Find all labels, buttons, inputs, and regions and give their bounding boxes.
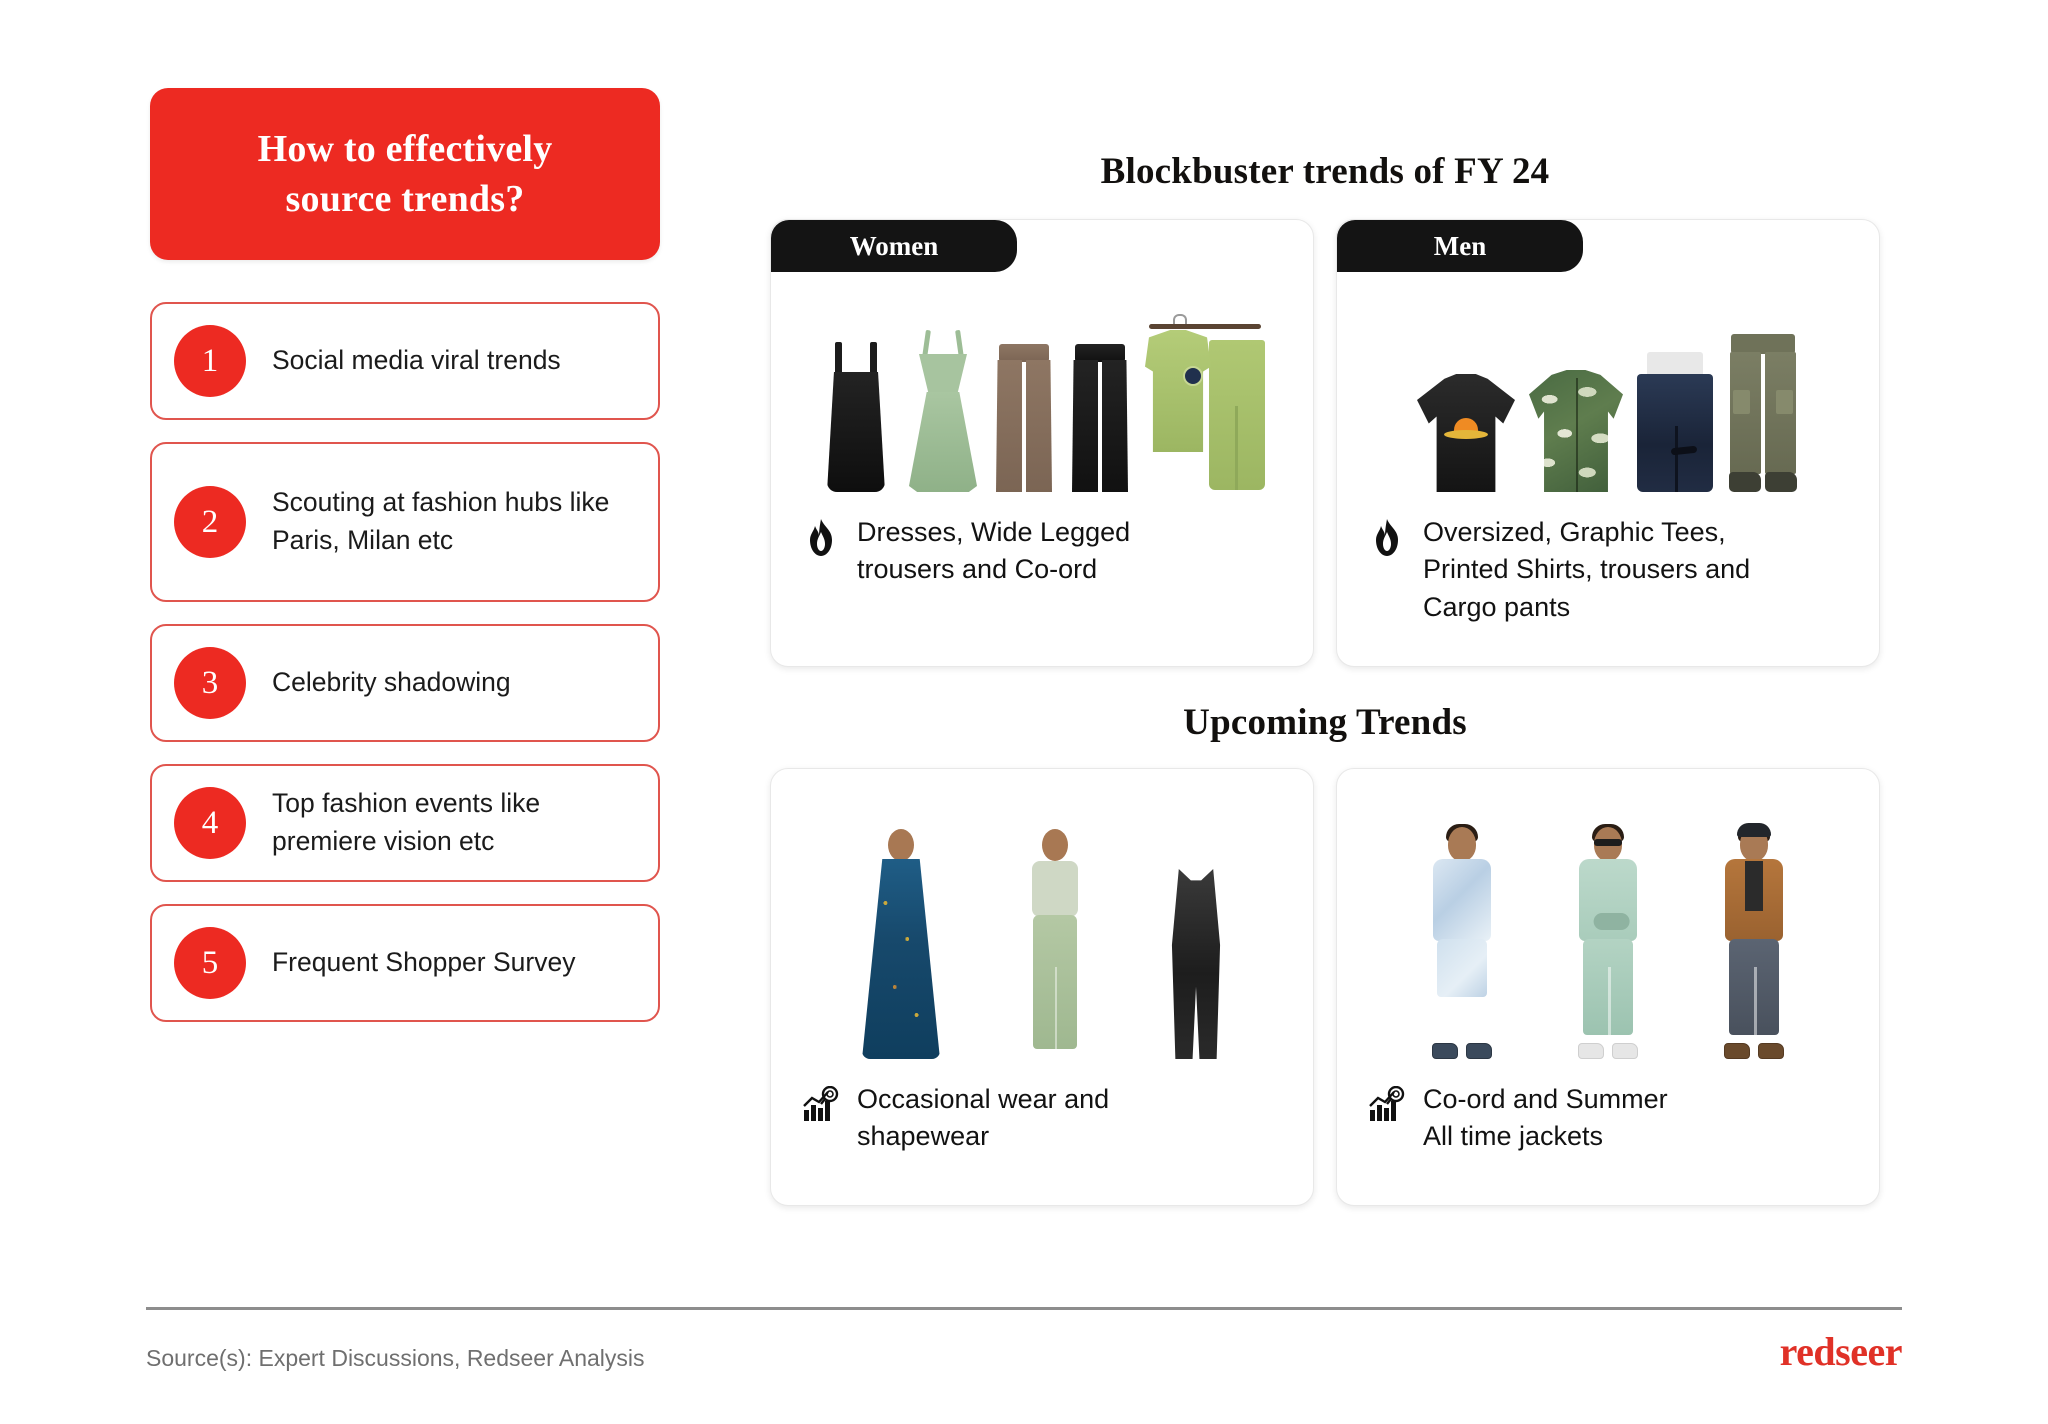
flame-icon xyxy=(801,514,841,562)
dark-denim-jeans-image xyxy=(1637,352,1713,492)
caption-text-women: Dresses, Wide Legged trousers and Co-ord xyxy=(857,514,1130,589)
blockbuster-card-row: Women xyxy=(770,219,1880,667)
caption-upcoming-men-line-2: All time jackets xyxy=(1423,1121,1603,1151)
section-title-card: How to effectively source trends? xyxy=(150,88,660,260)
page-title-line-1: How to effectively xyxy=(258,128,553,170)
black-mini-dress-image xyxy=(819,342,893,492)
upcoming-trends-heading: Upcoming Trends xyxy=(770,701,1880,744)
flame-icon xyxy=(1367,514,1407,562)
green-coord-set-image xyxy=(1145,314,1265,492)
source-note: Source(s): Expert Discussions, Redseer A… xyxy=(146,1345,645,1372)
black-graphic-tee-image xyxy=(1417,374,1515,492)
blue-occasion-lehenga-image xyxy=(845,827,957,1059)
caption-upcoming-men: Co-ord and Summer All time jackets xyxy=(1337,1059,1879,1156)
trend-card-women[interactable]: Women xyxy=(770,219,1314,667)
product-strip-upcoming-women xyxy=(771,809,1313,1059)
list-item[interactable]: 3 Celebrity shadowing xyxy=(150,624,660,742)
product-strip-upcoming-men xyxy=(1337,809,1879,1059)
caption-men-line-1: Oversized, Graphic Tees, xyxy=(1423,517,1726,547)
step-number-badge: 4 xyxy=(174,787,246,859)
trend-card-upcoming-women[interactable]: Occasional wear and shapewear xyxy=(770,768,1314,1206)
caption-text-upcoming-women: Occasional wear and shapewear xyxy=(857,1081,1109,1156)
gender-tab-men: Men xyxy=(1337,220,1583,272)
step-number-badge: 2 xyxy=(174,486,246,558)
left-panel: How to effectively source trends? 1 Soci… xyxy=(150,88,660,1022)
caption-men-line-2: Printed Shirts, trousers and xyxy=(1423,554,1750,584)
mint-coord-set-image xyxy=(1556,827,1660,1059)
step-number-badge: 5 xyxy=(174,927,246,999)
step-label: Top fashion events like premiere vision … xyxy=(272,785,658,860)
olive-cargo-pants-image xyxy=(1727,334,1799,492)
blockbuster-trends-heading: Blockbuster trends of FY 24 xyxy=(770,150,1880,193)
step-label: Frequent Shopper Survey xyxy=(272,944,591,982)
caption-men-line-3: Cargo pants xyxy=(1423,592,1570,622)
black-wide-leg-trousers-image xyxy=(1069,344,1131,492)
tan-jacket-outfit-image xyxy=(1702,827,1806,1059)
caption-men: Oversized, Graphic Tees, Printed Shirts,… xyxy=(1337,492,1879,626)
caption-upcoming-men-line-1: Co-ord and Summer xyxy=(1423,1084,1668,1114)
footer-row: Source(s): Expert Discussions, Redseer A… xyxy=(146,1332,1902,1372)
list-item[interactable]: 5 Frequent Shopper Survey xyxy=(150,904,660,1022)
caption-upcoming-women: Occasional wear and shapewear xyxy=(771,1059,1313,1156)
step-number-badge: 1 xyxy=(174,325,246,397)
trend-card-men[interactable]: Men xyxy=(1336,219,1880,667)
trend-chart-icon xyxy=(1367,1081,1407,1129)
step-label: Social media viral trends xyxy=(272,342,577,380)
footer-divider xyxy=(146,1307,1902,1310)
caption-upcoming-women-line-1: Occasional wear and xyxy=(857,1084,1109,1114)
list-item[interactable]: 2 Scouting at fashion hubs like Paris, M… xyxy=(150,442,660,602)
brown-wide-leg-trousers-image xyxy=(993,344,1055,492)
caption-women-line-1: Dresses, Wide Legged xyxy=(857,517,1130,547)
caption-text-men: Oversized, Graphic Tees, Printed Shirts,… xyxy=(1423,514,1750,626)
tie-dye-coord-image xyxy=(1410,827,1514,1059)
trend-card-upcoming-men[interactable]: Co-ord and Summer All time jackets xyxy=(1336,768,1880,1206)
green-activewear-set-image xyxy=(999,827,1111,1059)
gender-tab-women: Women xyxy=(771,220,1017,272)
green-midi-dress-image xyxy=(907,330,979,492)
source-trends-step-list: 1 Social media viral trends 2 Scouting a… xyxy=(150,302,660,1022)
list-item[interactable]: 1 Social media viral trends xyxy=(150,302,660,420)
upcoming-card-row: Occasional wear and shapewear xyxy=(770,768,1880,1206)
product-strip-men xyxy=(1337,292,1879,492)
footer: Source(s): Expert Discussions, Redseer A… xyxy=(146,1307,1902,1372)
step-number-badge: 3 xyxy=(174,647,246,719)
step-label: Scouting at fashion hubs like Paris, Mil… xyxy=(272,484,658,559)
black-shapewear-image xyxy=(1153,869,1239,1059)
list-item[interactable]: 4 Top fashion events like premiere visio… xyxy=(150,764,660,882)
caption-women: Dresses, Wide Legged trousers and Co-ord xyxy=(771,492,1313,589)
step-label: Celebrity shadowing xyxy=(272,664,527,702)
printed-leaf-shirt-image xyxy=(1529,370,1623,492)
product-strip-women xyxy=(771,292,1313,492)
trend-chart-icon xyxy=(801,1081,841,1129)
caption-text-upcoming-men: Co-ord and Summer All time jackets xyxy=(1423,1081,1668,1156)
caption-upcoming-women-line-2: shapewear xyxy=(857,1121,989,1151)
caption-women-line-2: trousers and Co-ord xyxy=(857,554,1097,584)
page-title: How to effectively source trends? xyxy=(234,124,577,224)
page-title-line-2: source trends? xyxy=(286,178,525,220)
redseer-logo: redseer xyxy=(1780,1332,1902,1372)
right-panel: Blockbuster trends of FY 24 Women xyxy=(770,150,1880,1206)
